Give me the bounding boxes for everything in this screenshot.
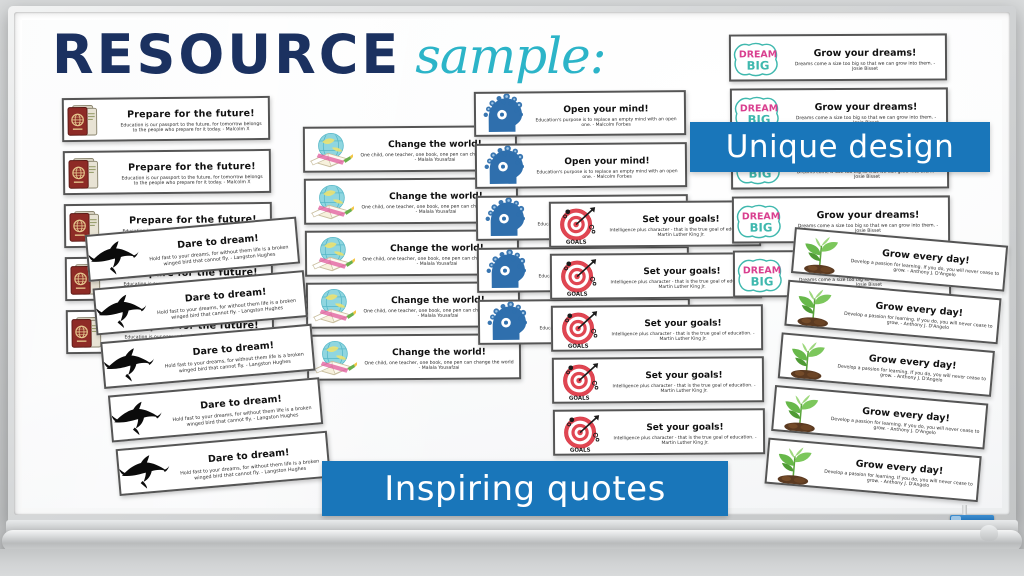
gears-head-icon — [479, 249, 531, 291]
bookmark-title: Open your mind! — [563, 104, 648, 115]
soaring-eagle-icon — [102, 340, 157, 386]
bookmark-body: Grow every day! Develop a passion for le… — [819, 450, 979, 494]
bookmark-body: Change the world! One child, one teacher… — [359, 341, 519, 372]
bookmark-body: Prepare for the future! Education is our… — [115, 156, 269, 188]
gears-head-icon — [476, 93, 528, 135]
bookmark-quote: Education's purpose is to replace an emp… — [533, 170, 681, 181]
bookmark-body: Grow every day! Develop a passion for le… — [826, 398, 986, 442]
bookmark-title: Set your goals! — [645, 371, 722, 382]
bookmark-title: Prepare for the future! — [127, 108, 255, 120]
passports-icon — [65, 153, 115, 194]
banner-unique-design: Unique design — [690, 122, 990, 172]
bookmark-quote: Develop a passion for learning. If you d… — [849, 260, 999, 283]
bookmark-body: Dare to dream! Hold fast to your dreams,… — [147, 279, 305, 323]
bookmark-body: Set your goals! Intelligence plus charac… — [607, 416, 763, 447]
banner-inspiring-quotes: Inspiring quotes — [322, 461, 728, 516]
gears-head-icon — [477, 145, 529, 187]
bookmark-body: Open your mind! Education's purpose is t… — [529, 150, 685, 181]
bookmark-body: Open your mind! Education's purpose is t… — [528, 98, 684, 129]
bookmark-quote: One child, one teacher, one book, one pe… — [363, 361, 515, 372]
page-title: RESOURCE sample: — [52, 28, 606, 82]
bookmark-title: Open your mind! — [564, 156, 649, 167]
soaring-eagle-icon — [118, 447, 173, 493]
bookmark-quote: Education is our passport to the future,… — [119, 176, 265, 187]
bookmark-title: Set your goals! — [643, 267, 720, 278]
bookmark-body: Grow your dreams! Dreams come a size too… — [785, 42, 945, 73]
bookmark-body: Grow every day! Develop a passion for le… — [832, 345, 992, 389]
bookmark-title: Prepare for the future! — [128, 161, 256, 173]
bookmark-quote: Education is our passport to the future,… — [118, 123, 264, 134]
bookmark-body: Prepare for the future! Education is our… — [114, 103, 268, 135]
dream-big-badge-icon — [735, 252, 789, 296]
sprouting-seedling-icon — [793, 228, 849, 276]
soaring-eagle-icon — [95, 286, 150, 332]
bookmark-title: Grow your dreams! — [817, 209, 920, 221]
globe-book-icon — [308, 284, 358, 326]
target-dartboard-icon — [553, 307, 605, 349]
globe-book-icon — [305, 128, 355, 170]
bookmark-quote: Intelligence plus character - that is th… — [610, 384, 758, 395]
bookmark-quote: Develop a passion for learning. If you d… — [843, 313, 993, 336]
bookmark-card[interactable]: Open your mind! Education's purpose is t… — [474, 90, 686, 137]
target-dartboard-icon — [555, 411, 607, 453]
bookmark-card[interactable]: Set your goals! Intelligence plus charac… — [552, 356, 764, 403]
title-resource: RESOURCE — [52, 28, 401, 82]
bookmark-title: Change the world! — [390, 244, 484, 255]
bookmark-quote: Intelligence plus character - that is th… — [611, 436, 759, 447]
bookmark-body: Grow every day! Develop a passion for le… — [845, 240, 1005, 284]
dream-big-badge-icon — [734, 198, 788, 242]
whiteboard-scene: GOALS DREAM BIG — [0, 0, 1024, 576]
bookmark-body: Dare to dream! Hold fast to your dreams,… — [170, 439, 328, 483]
bookmark-quote: Hold fast to your dreams, for without th… — [145, 245, 293, 268]
bookmark-quote: Dreams come a size too big so that we ca… — [789, 62, 941, 73]
tray-end-knob — [980, 525, 998, 541]
wall-below-board — [0, 549, 1024, 576]
bookmark-title: Grow your dreams! — [814, 47, 917, 59]
target-dartboard-icon — [554, 359, 606, 401]
bookmark-quote: Develop a passion for learning. If you d… — [836, 365, 986, 388]
sprouting-seedling-icon — [780, 334, 836, 382]
bookmark-body: Set your goals! Intelligence plus charac… — [606, 364, 762, 395]
title-sample: sample: — [415, 31, 605, 81]
globe-book-icon — [309, 336, 359, 378]
gears-head-icon — [480, 301, 532, 343]
bookmark-quote: Education's purpose is to replace an emp… — [532, 118, 680, 129]
bookmark-title: Set your goals! — [646, 423, 723, 434]
dream-big-badge-icon — [731, 36, 785, 80]
bookmark-card[interactable]: Grow your dreams! Dreams come a size too… — [729, 33, 947, 81]
bookmark-card[interactable]: Prepare for the future! Education is our… — [63, 149, 271, 195]
target-dartboard-icon — [552, 255, 604, 297]
bookmark-quote: Hold fast to your dreams, for without th… — [168, 406, 316, 429]
target-dartboard-icon — [551, 203, 603, 245]
bookmark-body: Set your goals! Intelligence plus charac… — [605, 312, 761, 343]
bookmark-title: Change the world! — [391, 296, 485, 307]
bookmark-quote: Hold fast to your dreams, for without th… — [176, 459, 324, 482]
bookmark-card[interactable]: Set your goals! Intelligence plus charac… — [549, 200, 761, 247]
soaring-eagle-icon — [110, 393, 165, 439]
bookmark-quote: Develop a passion for learning. If you d… — [823, 471, 973, 494]
bookmark-card[interactable]: Set your goals! Intelligence plus charac… — [553, 408, 765, 455]
bookmark-body: Dare to dream! Hold fast to your dreams,… — [162, 386, 320, 430]
globe-book-icon — [306, 180, 356, 222]
bookmark-body: Grow every day! Develop a passion for le… — [839, 292, 999, 336]
gears-head-icon — [478, 197, 530, 239]
bookmark-quote: Hold fast to your dreams, for without th… — [160, 352, 308, 375]
bookmark-title: Set your goals! — [642, 215, 719, 226]
bookmark-quote: Intelligence plus character - that is th… — [609, 332, 757, 343]
soaring-eagle-icon — [87, 233, 142, 279]
sprouting-seedling-icon — [767, 439, 823, 487]
bookmark-body: Dare to dream! Hold fast to your dreams,… — [139, 225, 297, 269]
sprouting-seedling-icon — [786, 281, 842, 329]
bookmark-title: Change the world! — [389, 192, 483, 203]
bookmark-title: Grow your dreams! — [815, 101, 918, 113]
bookmark-card[interactable]: Set your goals! Intelligence plus charac… — [550, 252, 762, 299]
bookmark-quote: Hold fast to your dreams, for without th… — [153, 299, 301, 322]
bookmark-quote: Develop a passion for learning. If you d… — [830, 418, 980, 441]
bookmark-title: Change the world! — [388, 140, 482, 151]
bookmark-body: Dare to dream! Hold fast to your dreams,… — [155, 332, 313, 376]
sprouting-seedling-icon — [773, 386, 829, 434]
bookmark-card[interactable]: Prepare for the future! Education is our… — [62, 96, 270, 142]
globe-book-icon — [307, 232, 357, 274]
bookmark-card[interactable]: Open your mind! Education's purpose is t… — [475, 142, 687, 189]
bookmark-card[interactable]: Set your goals! Intelligence plus charac… — [551, 304, 763, 351]
passports-icon — [64, 100, 114, 141]
bookmark-title: Set your goals! — [644, 319, 721, 330]
bookmark-title: Change the world! — [392, 348, 486, 359]
